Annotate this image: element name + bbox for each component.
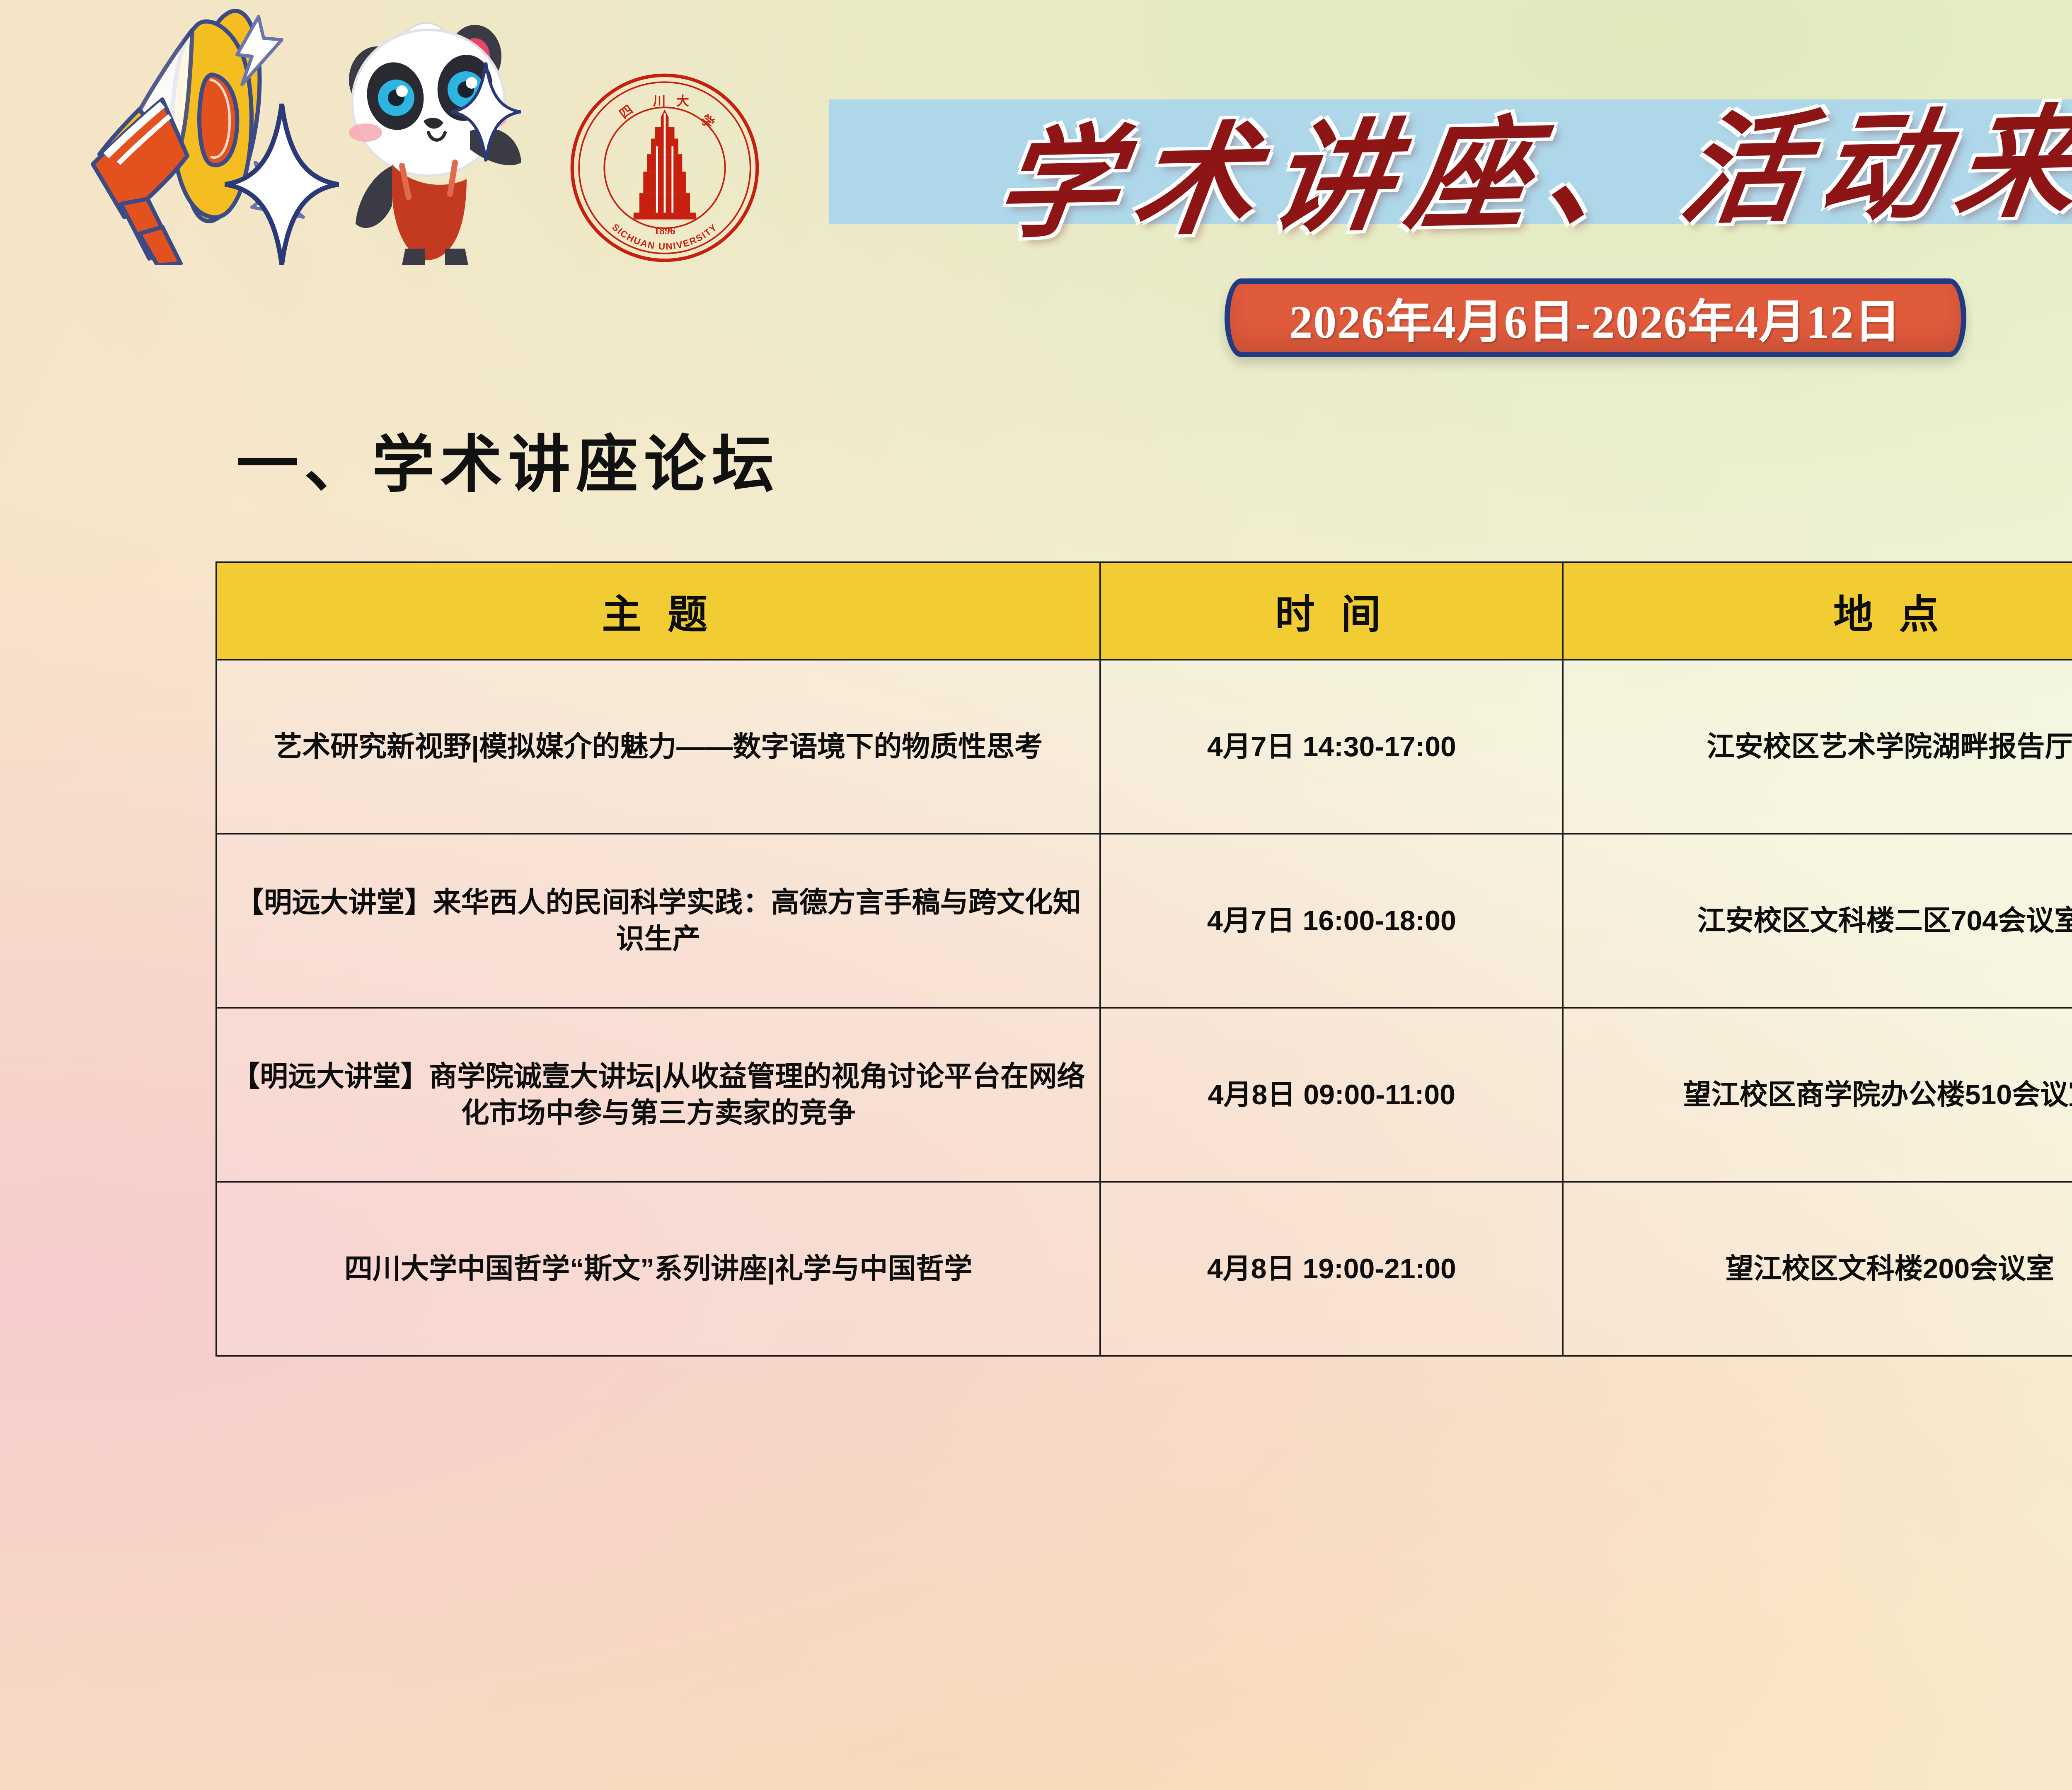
cell-place: 江安校区文科楼二区704会议室 [1563, 834, 2072, 1008]
cell-time: 4月7日 14:30-17:00 [1100, 660, 1563, 834]
cell-topic: 【明远大讲堂】商学院诚壹大讲坛|从收益管理的视角讨论平台在网络化市场中参与第三方… [216, 1008, 1100, 1182]
section-heading: 一、学术讲座论坛 [236, 414, 780, 504]
svg-text:大: 大 [676, 94, 689, 109]
cell-time: 4月7日 16:00-18:00 [1100, 834, 1563, 1008]
cell-place: 望江校区文科楼200会议室 [1563, 1182, 2072, 1356]
sparkle-icon [220, 102, 344, 267]
lecture-schedule-table: 主 题 时 间 地 点 主讲人 主办单位 艺术研究新视野|模拟媒介的魅力——数字… [215, 561, 2072, 1357]
cell-place: 望江校区商学院办公楼510会议室 [1563, 1008, 2072, 1182]
sichuan-university-logo: 四 川 大 学 SICHUAN UNIVERSITY 1896 [567, 70, 762, 265]
table-row: 【明远大讲堂】来华西人的民间科学实践：高德方言手稿与跨文化知识生产4月7日 16… [216, 834, 2072, 1008]
logo-year-text: 1896 [654, 225, 675, 237]
panda-mascot-icon [308, 0, 565, 265]
cell-topic: 【明远大讲堂】来华西人的民间科学实践：高德方言手稿与跨文化知识生产 [216, 834, 1100, 1008]
table-row: 四川大学中国哲学“斯文”系列讲座|礼学与中国哲学4月8日 19:00-21:00… [216, 1182, 2072, 1356]
date-range-badge: 2026年4月6日-2026年4月12日 [1225, 278, 1966, 357]
column-header-place: 地 点 [1563, 562, 2072, 660]
table-header-row: 主 题 时 间 地 点 主讲人 主办单位 [216, 562, 2072, 660]
table-row: 【明远大讲堂】商学院诚壹大讲坛|从收益管理的视角讨论平台在网络化市场中参与第三方… [216, 1008, 2072, 1182]
date-range-text: 2026年4月6日-2026年4月12日 [1289, 284, 1901, 351]
column-header-time: 时 间 [1100, 562, 1563, 660]
table-row: 艺术研究新视野|模拟媒介的魅力——数字语境下的物质性思考4月7日 14:30-1… [216, 660, 2072, 834]
cell-topic: 四川大学中国哲学“斯文”系列讲座|礼学与中国哲学 [216, 1182, 1100, 1356]
column-header-topic: 主 题 [216, 562, 1100, 660]
poster-canvas: 四 川 大 学 SICHUAN UNIVERSITY 1896 学术讲座、活动来… [0, 0, 2072, 1790]
sparkle-icon [450, 60, 522, 164]
cell-topic: 艺术研究新视野|模拟媒介的魅力——数字语境下的物质性思考 [216, 660, 1100, 834]
page-title: 学术讲座、活动来啦 [835, 54, 2072, 268]
svg-text:四: 四 [617, 102, 636, 121]
svg-text:学: 学 [698, 112, 717, 131]
cell-place: 江安校区艺术学院湖畔报告厅 [1563, 660, 2072, 834]
cell-time: 4月8日 09:00-11:00 [1100, 1008, 1563, 1182]
cell-time: 4月8日 19:00-21:00 [1100, 1182, 1563, 1356]
svg-text:川: 川 [653, 94, 666, 109]
